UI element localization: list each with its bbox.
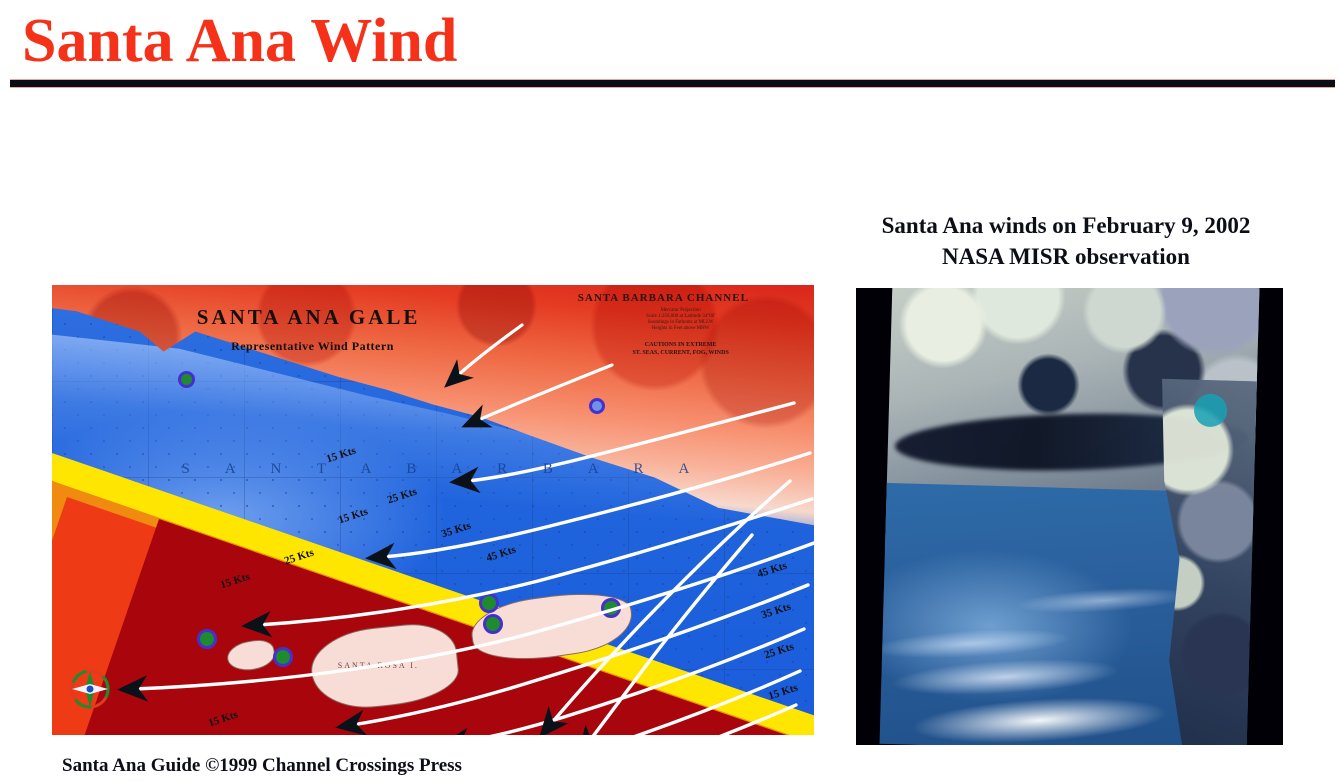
santa-ana-wind-chart-image: SANTA ROSA I. SANTA AN xyxy=(52,285,814,735)
chart-scale-notes: Mercator Projection Scale 1:250,000 at L… xyxy=(597,308,765,332)
map-source-caption: Santa Ana Guide ©1999 Channel Crossings … xyxy=(62,755,462,777)
lake-marker-icon xyxy=(589,398,605,414)
island-label-santa-rosa: SANTA ROSA I. xyxy=(338,661,419,670)
satellite-swath xyxy=(879,288,1259,745)
buoy-marker-icon xyxy=(178,371,195,388)
chart-subtitle: Representative Wind Pattern xyxy=(231,339,394,354)
chart-title: SANTA ANA GALE xyxy=(197,305,421,330)
buoy-marker-icon xyxy=(479,593,499,613)
buoy-marker-icon xyxy=(601,598,621,618)
ocean-label: S A N T A B A R B A R A xyxy=(182,461,706,478)
page-title: Santa Ana Wind xyxy=(22,6,457,76)
photo-caption-line-1: Santa Ana winds on February 9, 2002 xyxy=(836,210,1296,241)
misr-satellite-image xyxy=(856,288,1283,745)
chart-caution-note: CAUTIONS IN EXTREME ST. SEAS, CURRENT, F… xyxy=(593,341,768,357)
chart-region-name: SANTA BARBARA CHANNEL xyxy=(578,292,749,304)
buoy-marker-icon xyxy=(197,629,217,649)
compass-rose-icon xyxy=(69,668,111,710)
photo-caption: Santa Ana winds on February 9, 2002 NASA… xyxy=(836,210,1296,272)
photo-caption-line-2: NASA MISR observation xyxy=(836,241,1296,272)
buoy-marker-icon xyxy=(483,614,503,634)
title-divider-rule xyxy=(10,79,1335,88)
